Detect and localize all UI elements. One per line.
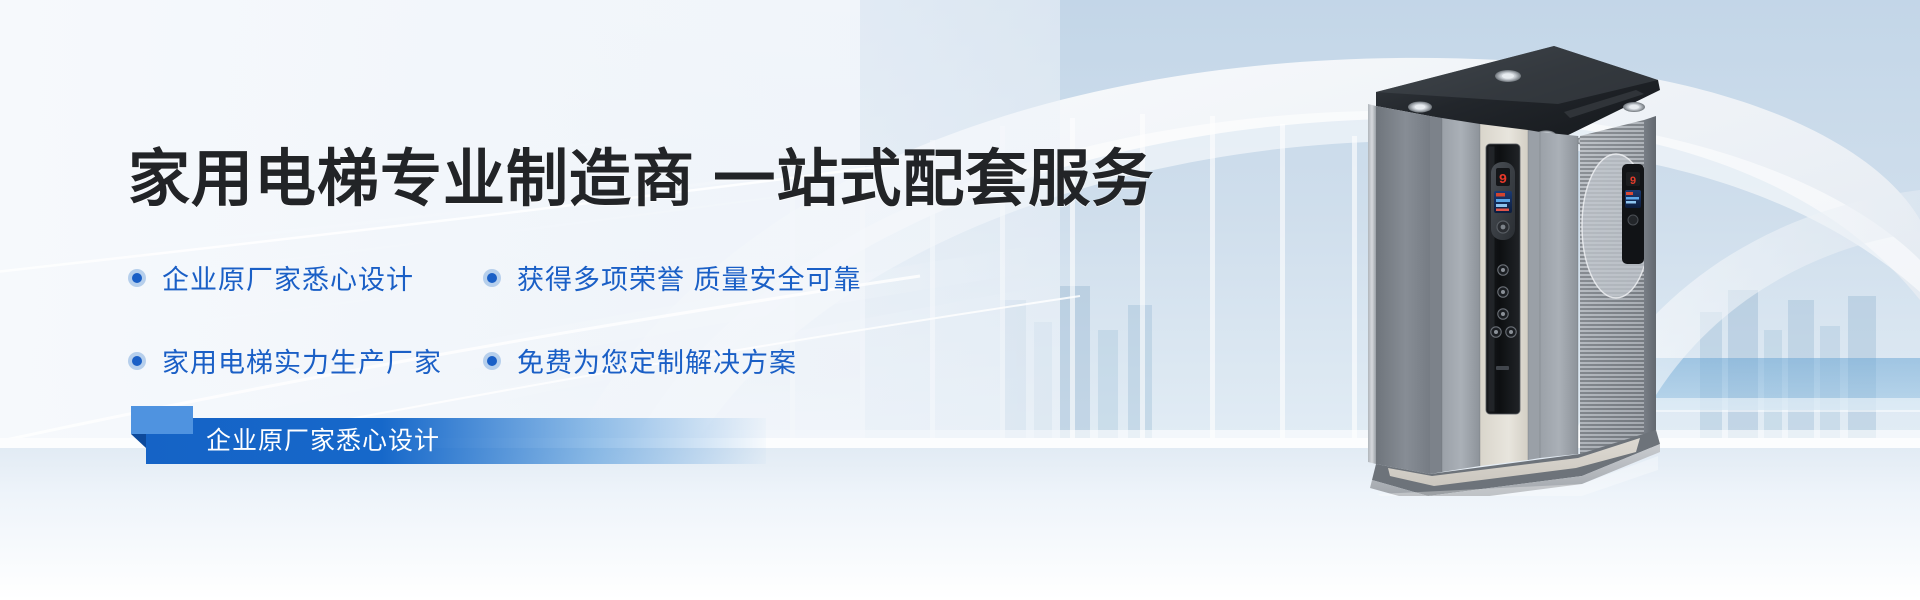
cabin-panel-b bbox=[1540, 132, 1578, 458]
reflected-control-panel: 9 bbox=[1622, 164, 1644, 264]
elevator-cabin-image: 9 9 bbox=[1368, 44, 1660, 496]
feature-item: 免费为您定制解决方案 bbox=[483, 341, 797, 380]
feature-label: 免费为您定制解决方案 bbox=[517, 341, 797, 380]
cabin-panel-a bbox=[1442, 118, 1480, 472]
ribbon-label: 企业原厂家悉心设计 bbox=[206, 418, 440, 464]
feature-list: 企业原厂家悉心设计 获得多项荣誉 质量安全可靠 家用电梯实力生产厂家 免 bbox=[128, 258, 928, 380]
feature-label: 家用电梯实力生产厂家 bbox=[162, 341, 442, 380]
ribbon-tag[interactable]: 企业原厂家悉心设计 bbox=[146, 418, 766, 464]
cabin-wall-left bbox=[1376, 106, 1430, 474]
feature-item: 获得多项荣誉 质量安全可靠 bbox=[483, 258, 862, 297]
elevator-illustration: 9 9 bbox=[1368, 44, 1660, 496]
bullet-dot-icon bbox=[128, 352, 146, 370]
svg-text:9: 9 bbox=[1630, 176, 1637, 188]
page-title: 家用电梯专业制造商 一站式配套服务 bbox=[128, 128, 1154, 218]
control-panel: 9 bbox=[1486, 144, 1520, 414]
feature-row: 家用电梯实力生产厂家 免费为您定制解决方案 bbox=[128, 341, 928, 380]
promo-banner: 家用电梯专业制造商 一站式配套服务 企业原厂家悉心设计 获得多项荣誉 质量安全可… bbox=[0, 0, 1920, 600]
cabin-right-post bbox=[1644, 116, 1656, 436]
ribbon-flag-icon bbox=[131, 406, 193, 434]
bullet-dot-icon bbox=[483, 269, 501, 287]
panel-brand-plate bbox=[1496, 366, 1509, 370]
floor-number: 9 bbox=[1499, 172, 1507, 188]
feature-label: 获得多项荣誉 质量安全可靠 bbox=[517, 258, 862, 297]
feature-item: 企业原厂家悉心设计 bbox=[128, 258, 483, 297]
feature-item: 家用电梯实力生产厂家 bbox=[128, 341, 483, 380]
feature-label: 企业原厂家悉心设计 bbox=[162, 258, 414, 297]
cabin-left-jamb bbox=[1368, 104, 1376, 464]
bullet-dot-icon bbox=[128, 269, 146, 287]
bullet-dot-icon bbox=[483, 352, 501, 370]
feature-row: 企业原厂家悉心设计 获得多项荣誉 质量安全可靠 bbox=[128, 258, 928, 297]
ribbon-fold-icon bbox=[131, 434, 146, 448]
